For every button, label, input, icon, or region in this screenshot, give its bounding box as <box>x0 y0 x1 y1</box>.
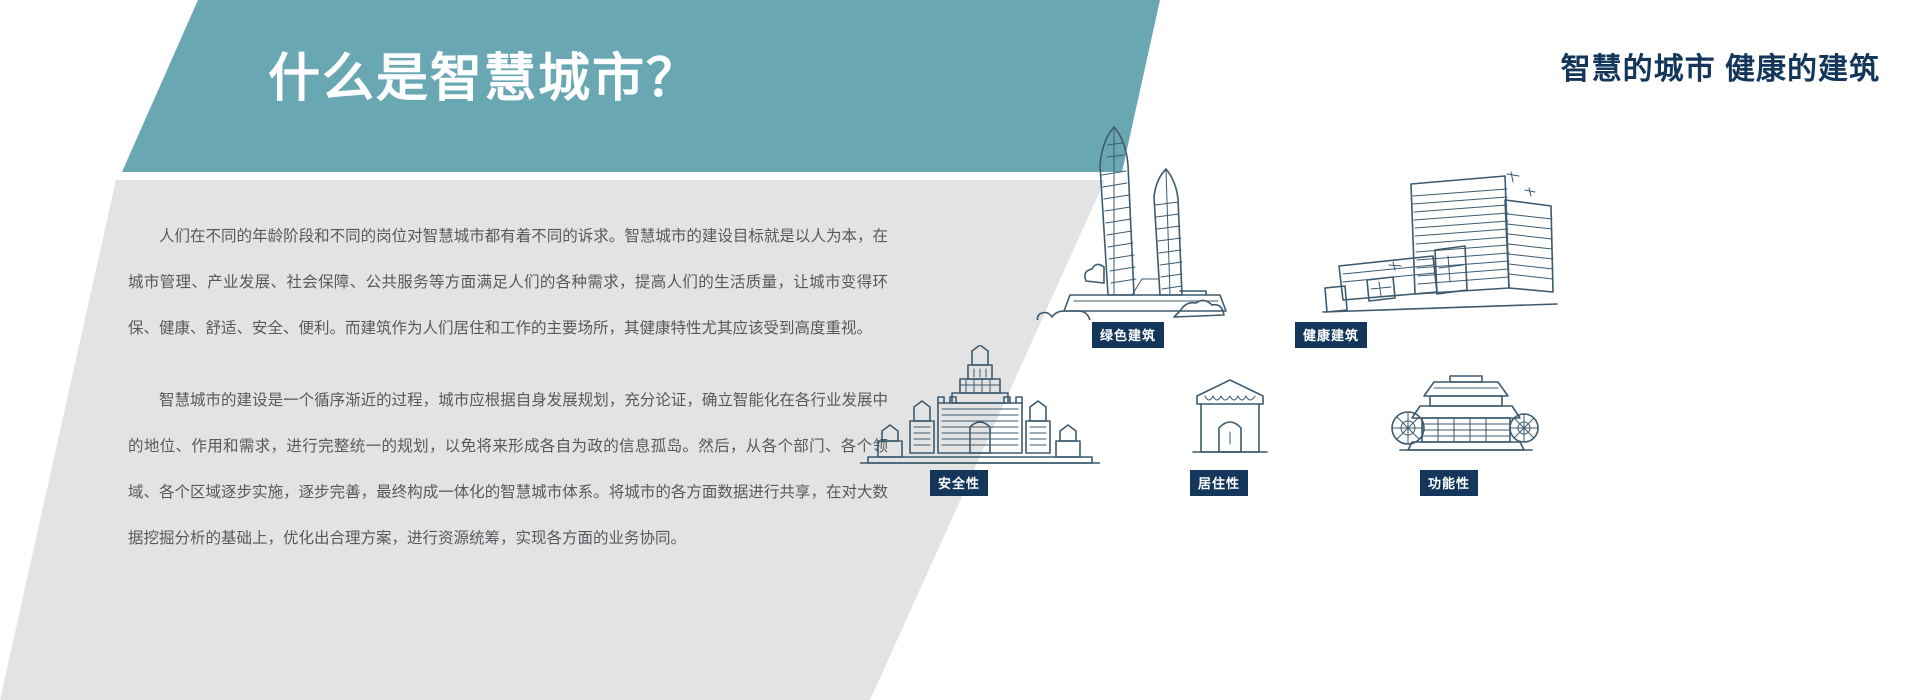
tagline-heading: 智慧的城市 健康的建筑 <box>1561 44 1880 88</box>
badge-functionality: 功能性 <box>1420 470 1478 496</box>
poster-canvas: 什么是智慧城市？ 智慧的城市 健康的建筑 人们在不同的年龄阶段和不同的岗位对智慧… <box>0 0 1920 700</box>
badge-safety: 安全性 <box>930 470 988 496</box>
body-copy: 人们在不同的年龄阶段和不同的岗位对智慧城市都有着不同的诉求。智慧城市的建设目标就… <box>128 214 888 562</box>
paragraph-2: 智慧城市的建设是一个循序渐近的过程，城市应根据自身发展规划，充分论证，确立智能化… <box>128 378 888 562</box>
hospital-building-icon <box>1315 170 1560 320</box>
badge-health-building: 健康建筑 <box>1295 322 1367 348</box>
illustration-group: 绿色建筑 <box>1020 100 1900 620</box>
pavilion-icon <box>1390 370 1540 460</box>
paragraph-1: 人们在不同的年龄阶段和不同的岗位对智慧城市都有着不同的诉求。智慧城市的建设目标就… <box>128 214 888 352</box>
castle-icon <box>860 345 1100 470</box>
twisted-towers-icon <box>1030 105 1260 320</box>
badge-green-building: 绿色建筑 <box>1092 322 1164 348</box>
badge-livability: 居住性 <box>1190 470 1248 496</box>
page-title: 什么是智慧城市？ <box>268 36 700 111</box>
house-icon <box>1175 370 1285 465</box>
